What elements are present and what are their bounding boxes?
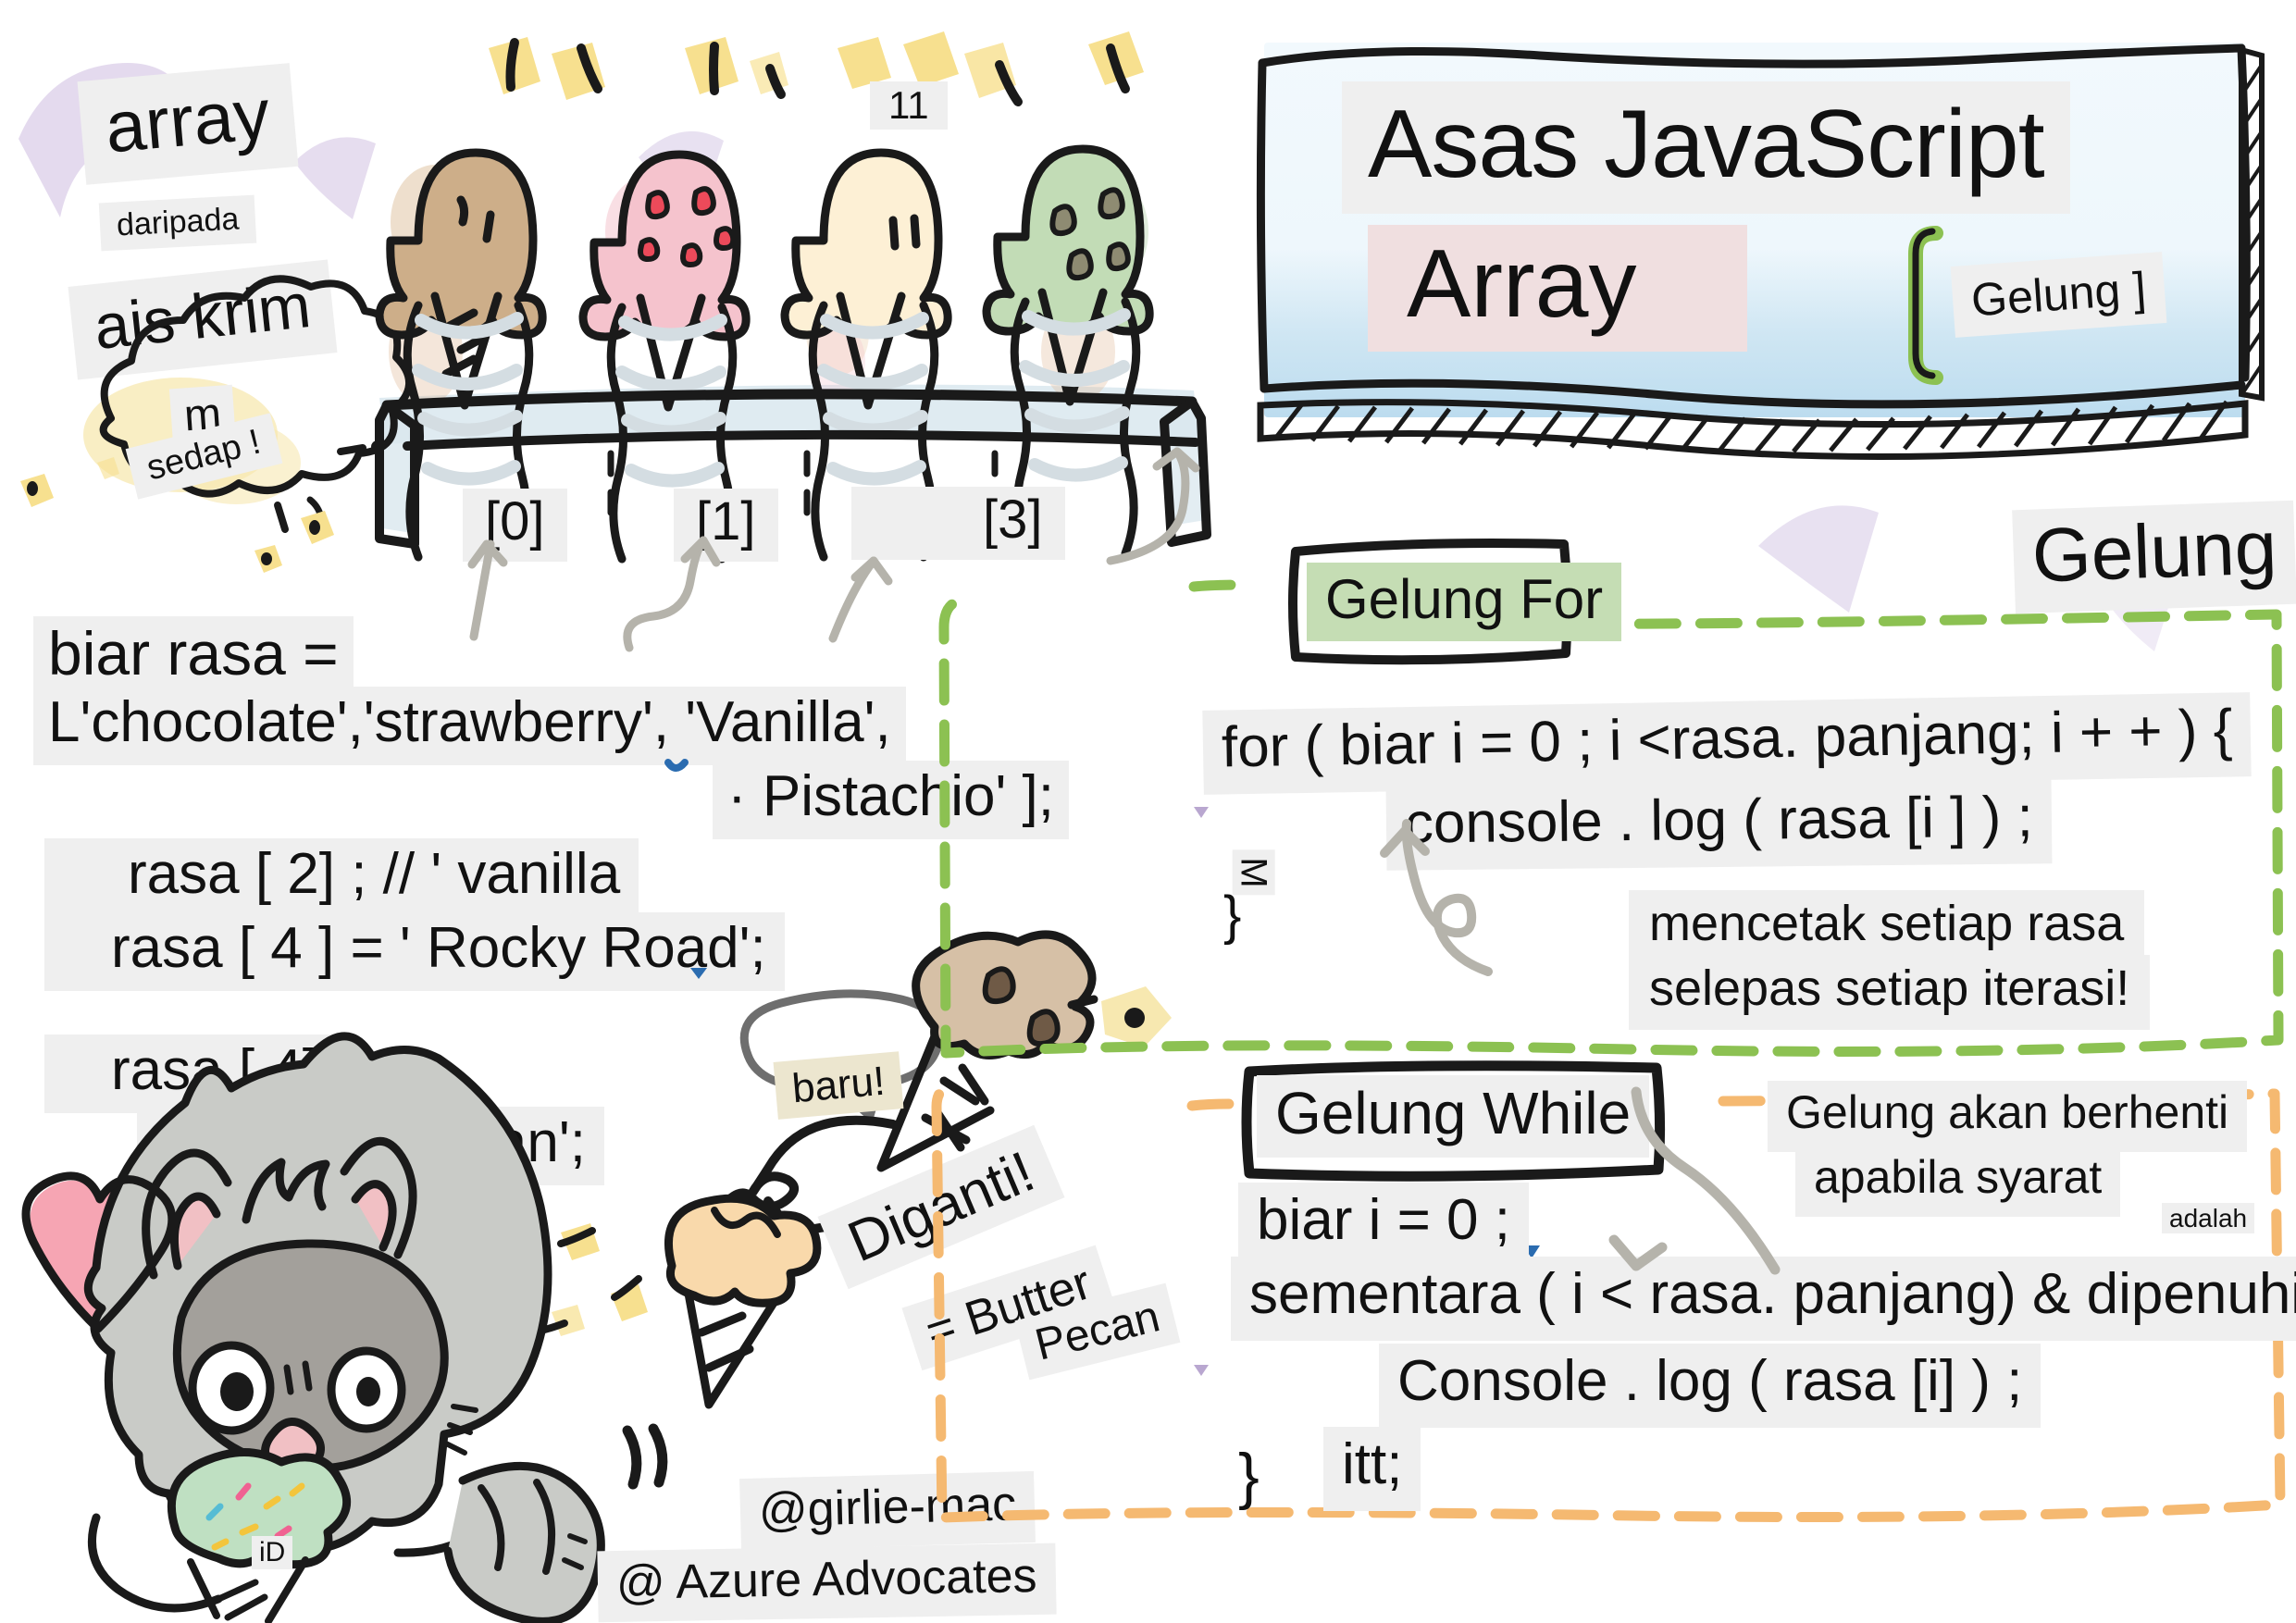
cone-id-label: iD	[252, 1536, 292, 1569]
while-annotation-adalah: adalah	[2162, 1203, 2254, 1233]
code-line-index4: rasa [ 4]	[44, 1035, 337, 1113]
sparkle-count-label: 11	[870, 81, 948, 130]
code-line-values: L'chocolate','strawberry', 'Vanilla',	[33, 687, 906, 765]
credit-handle: @girlie-mac	[739, 1471, 1036, 1550]
gelung-while-label: Gelung While	[1257, 1075, 1649, 1158]
for-annotation-line1: mencetak setiap rasa	[1629, 890, 2144, 965]
heading-gelung: Gelung	[2012, 501, 2296, 614]
while-annotation-line2: apabila syarat	[1795, 1146, 2120, 1217]
bracket-gelung-label: Gelung ]	[1951, 252, 2167, 337]
while-code-line-1: biar i = 0 ;	[1238, 1183, 1529, 1267]
code-line-access: rasa [ 2] ; // ' vanilla	[44, 838, 639, 917]
index-chip-0: [0]	[463, 489, 567, 562]
for-code-line-2: console . log ( rasa [i ] ) ;	[1386, 779, 2053, 871]
code-line-pistachio: · Pistachio' ];	[713, 761, 1069, 839]
for-brace-right: }	[1223, 888, 1241, 945]
while-code-line-3: Console . log ( rasa [i] ) ;	[1379, 1344, 2041, 1428]
sketchnote-canvas: Asas JavaScript Array Gelung ] array dar…	[0, 0, 2296, 1618]
speech-baru: baru!	[774, 1051, 904, 1120]
board-title-line2: Array	[1368, 225, 1747, 352]
credit-org: @ Azure Advocates	[597, 1543, 1056, 1622]
while-annotation-line1: Gelung akan berhenti	[1768, 1081, 2247, 1152]
diganti-label: Diganti!	[817, 1125, 1064, 1290]
word-ais-krim: ais krim	[68, 260, 337, 380]
while-code-line-2: sementara ( i < rasa. panjang) & dipenuh…	[1231, 1257, 2296, 1341]
word-daripada: daripada	[99, 195, 257, 251]
while-code-line-4: itt;	[1323, 1427, 1421, 1511]
for-code-line-1: for ( biar i = 0 ; i <rasa. panjang; i +…	[1202, 692, 2252, 795]
while-closing-brace: }	[1238, 1443, 1260, 1509]
gelung-for-label: Gelung For	[1307, 563, 1621, 641]
code-line-assign: rasa [ 4 ] = ' Rocky Road';	[44, 912, 785, 991]
code-line-butterpecan: =" Butter Pecan';	[137, 1107, 604, 1185]
word-array: array	[78, 63, 299, 184]
index-chip-3: [3]	[961, 487, 1065, 560]
for-annotation-line2: selepas setiap iterasi!	[1629, 955, 2150, 1030]
index-chip-1: [1]	[674, 489, 778, 562]
board-title-line1: Asas JavaScript	[1342, 81, 2070, 214]
